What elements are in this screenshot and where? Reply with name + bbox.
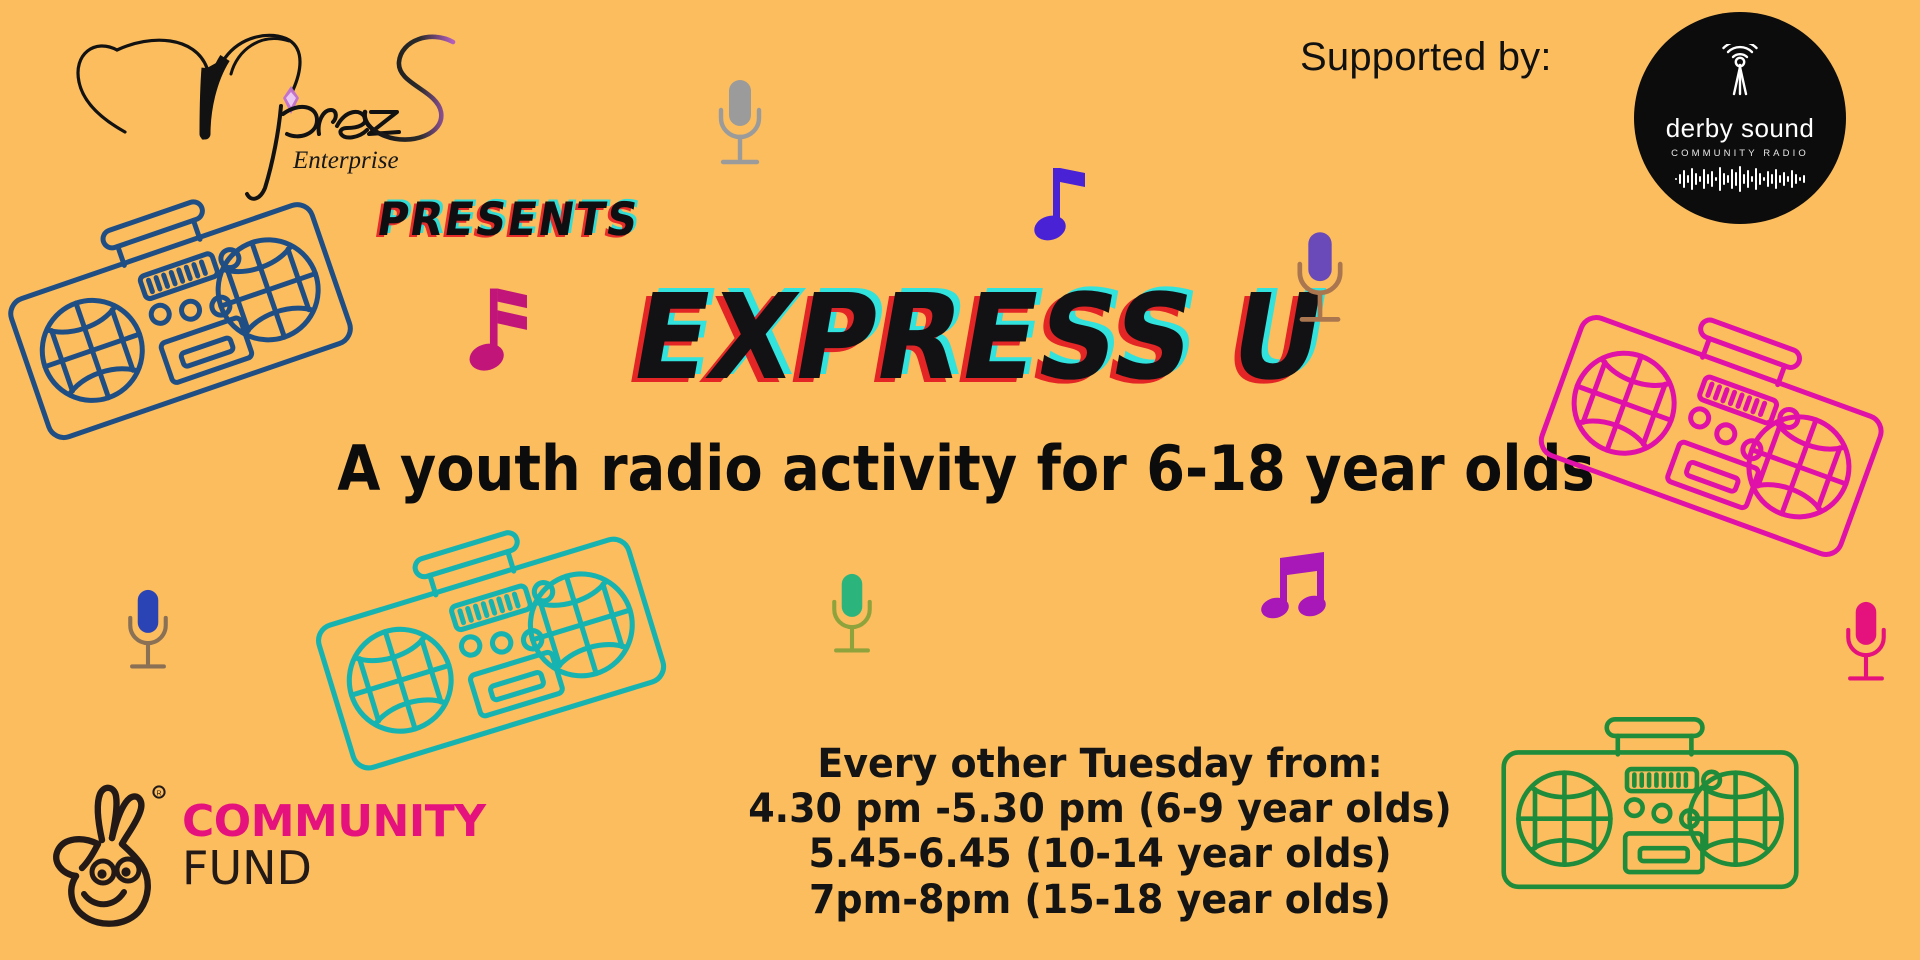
boombox-blue (0, 157, 364, 454)
schedule-line: 5.45-6.45 (10-14 year olds) (587, 832, 1613, 877)
supported-by-label: Supported by: (1300, 35, 1552, 80)
community-fund-line1: COMMUNITY (182, 800, 486, 844)
microphone-green (824, 570, 880, 660)
page-subtitle: A youth radio activity for 6-18 year old… (264, 432, 1668, 505)
derby-sound-name: derby sound (1666, 113, 1815, 144)
schedule-heading: Every other Tuesday from: (587, 742, 1613, 787)
schedule-line: 7pm-8pm (15-18 year olds) (587, 878, 1613, 923)
schedule-block: Every other Tuesday from: 4.30 pm -5.30 … (587, 742, 1613, 923)
boombox-pink (1528, 270, 1907, 571)
svg-text:R: R (156, 791, 161, 798)
microphone-purple (1288, 228, 1352, 330)
poster-canvas: Enterprise PRESENTS Supported by: derby … (0, 0, 1920, 960)
schedule-line: 4.30 pm -5.30 pm (6-9 year olds) (587, 787, 1613, 832)
boombox-green (1498, 712, 1802, 896)
broadcast-tower-icon (1709, 44, 1771, 107)
boombox-teal (296, 490, 677, 783)
microphone-blue (120, 586, 176, 676)
music-note-beamed-purple (1262, 548, 1334, 628)
audio-waveform-icon (1674, 166, 1806, 197)
microphone-pink (1838, 598, 1894, 688)
community-fund-logo: R COMMUNITY FUND (42, 782, 462, 942)
crossed-fingers-hand-icon: R (42, 782, 174, 932)
community-fund-line2: FUND (182, 844, 486, 894)
derby-sound-badge: derby sound COMMUNITY RADIO (1634, 12, 1846, 224)
page-title: EXPRESS U (624, 278, 1333, 396)
microphone-grey (710, 76, 770, 172)
presents-label: PRESENTS (373, 192, 643, 246)
derby-sound-subtitle: COMMUNITY RADIO (1671, 148, 1809, 159)
music-note-eighth-purple (1035, 160, 1095, 250)
mprez-tagline: Enterprise (292, 147, 399, 174)
music-note-sixteenth-pink (470, 282, 536, 380)
